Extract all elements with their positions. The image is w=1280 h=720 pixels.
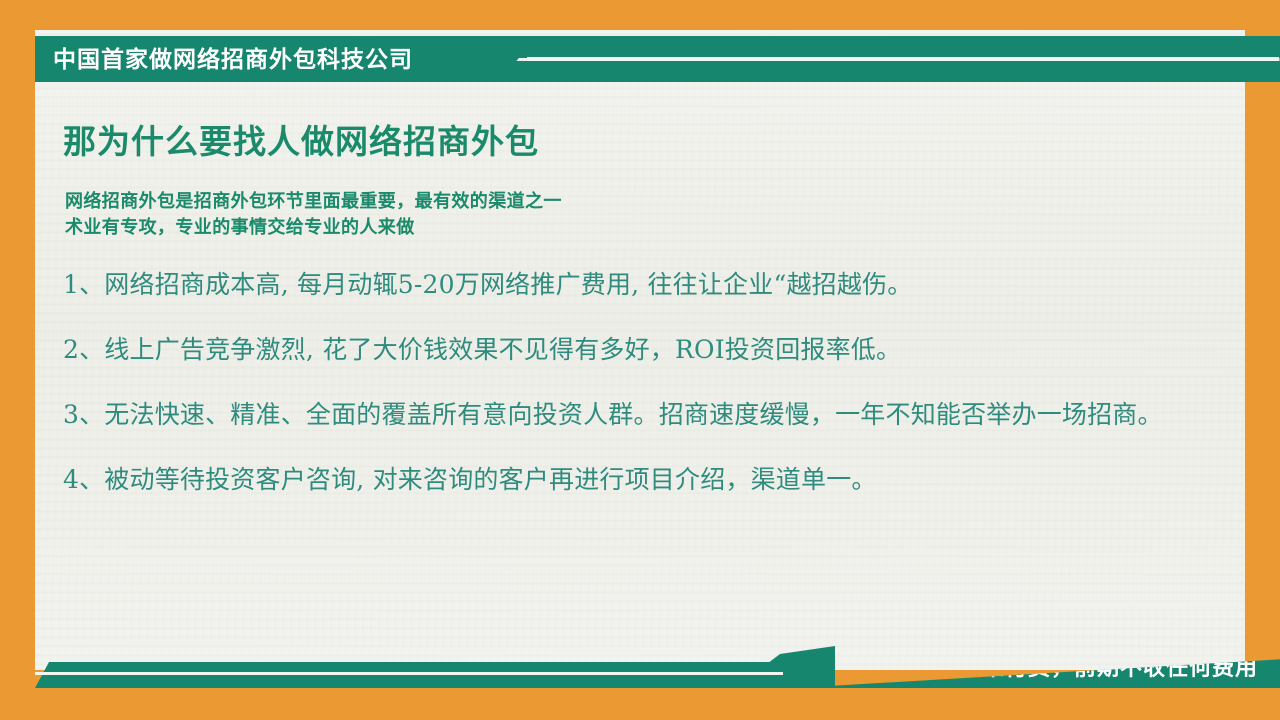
header-strip-upper (490, 36, 1280, 58)
footer-left-bar (35, 662, 795, 688)
footer-divider-line (35, 672, 783, 675)
header-band: 中国首家做网络招商外包科技公司 (35, 36, 1280, 82)
header-tab-shape: 中国首家做网络招商外包科技公司 (35, 36, 535, 82)
header-divider-line (527, 57, 1279, 61)
page-title: 那为什么要找人做网络招商外包 (63, 118, 1220, 166)
subtitle-line-2: 术业有专攻，专业的事情交给专业的人来做 (65, 214, 1220, 240)
header-tab-label: 中国首家做网络招商外包科技公司 (53, 36, 413, 82)
pain-point-list: 1、网络招商成本高, 每月动辄5-20万网络推广费用, 往往让企业“越招越伤。 … (63, 265, 1220, 500)
footer-tagline: 按效果付费，前期不收任何费用 (936, 646, 1258, 688)
list-item: 3、无法快速、精准、全面的覆盖所有意向投资人群。招商速度缓慢，一年不知能否举办一… (63, 395, 1193, 435)
list-item: 2、线上广告竞争激烈, 花了大价钱效果不见得有多好，ROI投资回报率低。 (63, 330, 1193, 370)
header-strip-lower (487, 61, 1280, 82)
list-item: 1、网络招商成本高, 每月动辄5-20万网络推广费用, 往往让企业“越招越伤。 (63, 265, 1193, 305)
slide-canvas: 中国首家做网络招商外包科技公司 那为什么要找人做网络招商外包 网络招商外包是招商… (0, 0, 1280, 720)
list-item: 4、被动等待投资客户咨询, 对来咨询的客户再进行项目介绍，渠道单一。 (63, 460, 1193, 500)
slide-content: 那为什么要找人做网络招商外包 网络招商外包是招商外包环节里面最重要，最有效的渠道… (60, 118, 1220, 500)
subtitle-block: 网络招商外包是招商外包环节里面最重要，最有效的渠道之一 术业有专攻，专业的事情交… (65, 188, 1220, 240)
footer-band: 按效果付费，前期不收任何费用 (35, 646, 1280, 688)
subtitle-line-1: 网络招商外包是招商外包环节里面最重要，最有效的渠道之一 (65, 188, 1220, 214)
